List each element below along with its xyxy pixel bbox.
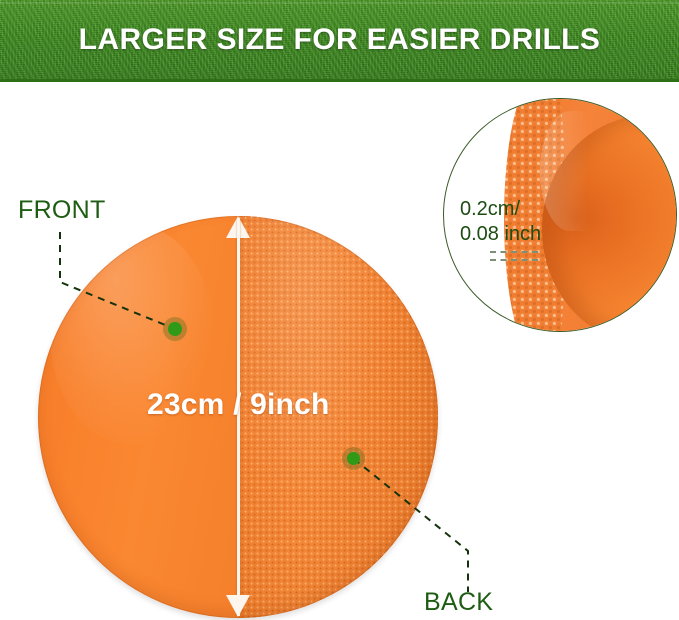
front-label: FRONT — [18, 196, 106, 225]
thickness-label-inch: 0.08 inch — [460, 222, 541, 247]
front-marker-dot — [168, 322, 182, 336]
thickness-label: 0.2cm/ 0.08 inch — [460, 197, 541, 247]
banner-title: LARGER SIZE FOR EASIER DRILLS — [0, 0, 679, 82]
inset-circle-frame: 0.2cm/ 0.08 inch — [443, 98, 677, 332]
thickness-indicator-line-bottom — [490, 259, 538, 261]
back-marker-dot — [347, 452, 360, 465]
back-label: BACK — [424, 588, 493, 617]
thickness-indicator-line-top — [490, 251, 538, 253]
dimension-arrow-down-icon — [226, 595, 250, 617]
thickness-detail-inset: 0.2cm/ 0.08 inch — [443, 98, 679, 334]
inset-disc-lip-highlight — [540, 111, 600, 231]
diameter-label: 23cm / 9inch — [147, 388, 330, 422]
thickness-label-cm: 0.2cm/ — [460, 197, 541, 222]
product-infographic: LARGER SIZE FOR EASIER DRILLS 23cm / 9in… — [0, 0, 679, 620]
header-banner: LARGER SIZE FOR EASIER DRILLS — [0, 0, 679, 82]
